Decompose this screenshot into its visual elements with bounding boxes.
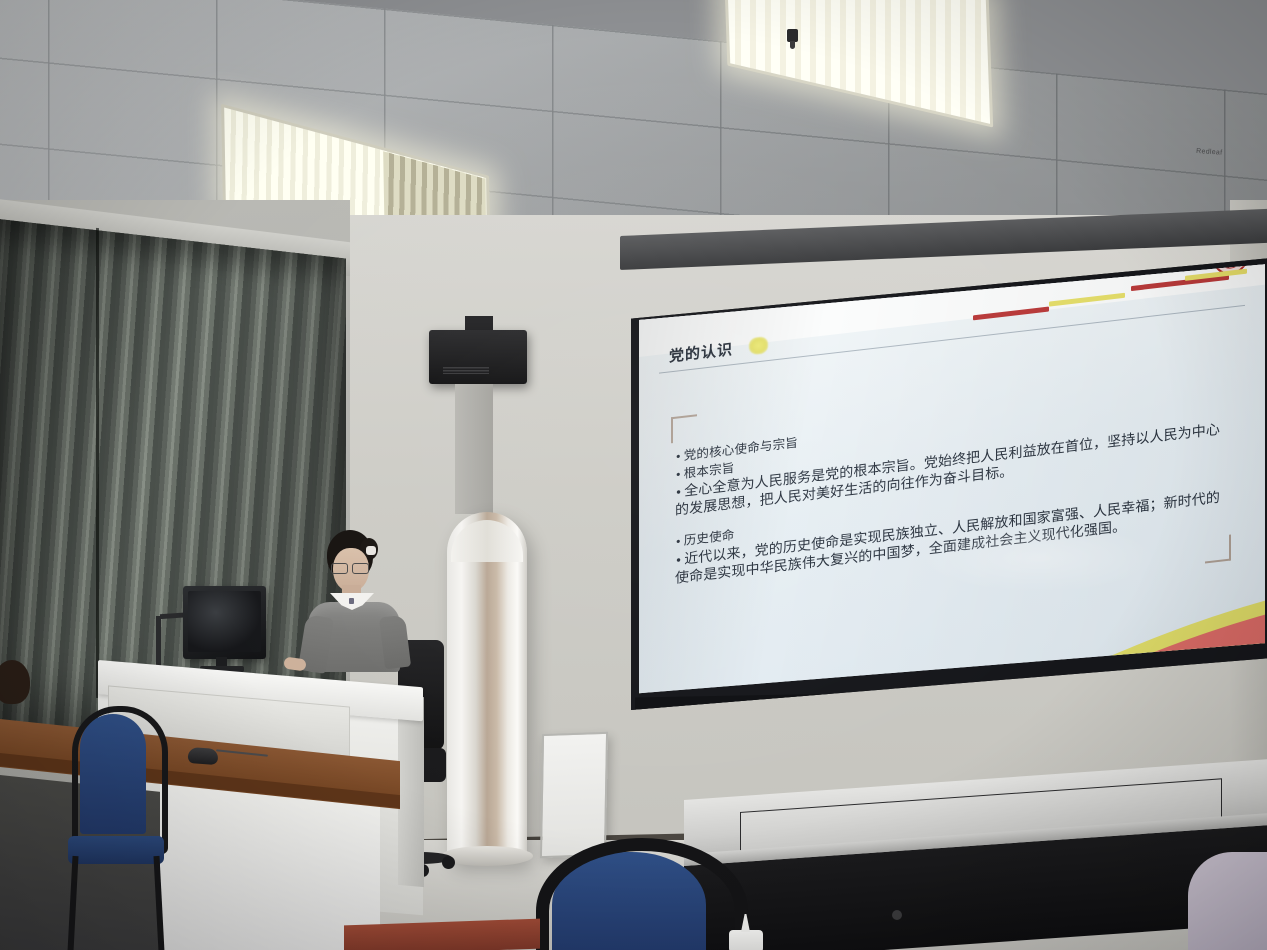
- audience-member-left: [0, 660, 30, 704]
- podium-side-panel: [398, 695, 424, 887]
- presenter: [300, 530, 406, 670]
- stainless-table-right: [684, 800, 1267, 950]
- corner-bracket-top-left: [671, 414, 697, 443]
- desk-monitor: [183, 586, 266, 659]
- computer-mouse: [187, 747, 218, 765]
- chair-leg: [67, 856, 78, 950]
- blue-chair-center: [536, 838, 722, 950]
- chair-seat: [68, 836, 164, 864]
- presenter-hair-clip: [366, 546, 376, 555]
- paper-cup: [729, 930, 763, 950]
- curtain-seam: [96, 228, 99, 698]
- presenter-collar-button: [349, 598, 354, 604]
- air-conditioner-unit: [447, 512, 527, 862]
- chair-frame: [72, 706, 168, 854]
- table-knob: [892, 910, 902, 920]
- chair-wheel: [442, 856, 455, 869]
- corner-bracket-bottom-right: [1205, 535, 1231, 564]
- projection-screen: 中国石油大学(华东) CHINA UNIVERSITY OF PETROLEUM…: [631, 258, 1267, 710]
- chair-frame: [536, 838, 748, 950]
- audience-member-right: [1188, 852, 1267, 950]
- screen-surface: 中国石油大学(华东) CHINA UNIVERSITY OF PETROLEUM…: [639, 263, 1265, 695]
- speaker-support-pole: [455, 384, 493, 514]
- presentation-slide: 中国石油大学(华东) CHINA UNIVERSITY OF PETROLEUM…: [639, 263, 1265, 695]
- glasses-icon: [331, 563, 369, 572]
- slide-body: 党的核心使命与宗旨 根本宗旨 全心全意为人民服务是党的根本宗旨。党始终把人民利益…: [675, 385, 1231, 594]
- desk-front-panel: [160, 778, 380, 950]
- title-accent-icon: [749, 336, 768, 355]
- classroom-photo: Redleaf 中国石油大学(华东) CHINA UNIVERSITY OF P…: [0, 0, 1267, 950]
- sprinkler-icon: [787, 29, 798, 42]
- blue-chair-left: [64, 706, 168, 950]
- wall-speaker: [429, 330, 527, 384]
- chair-leg: [153, 856, 164, 950]
